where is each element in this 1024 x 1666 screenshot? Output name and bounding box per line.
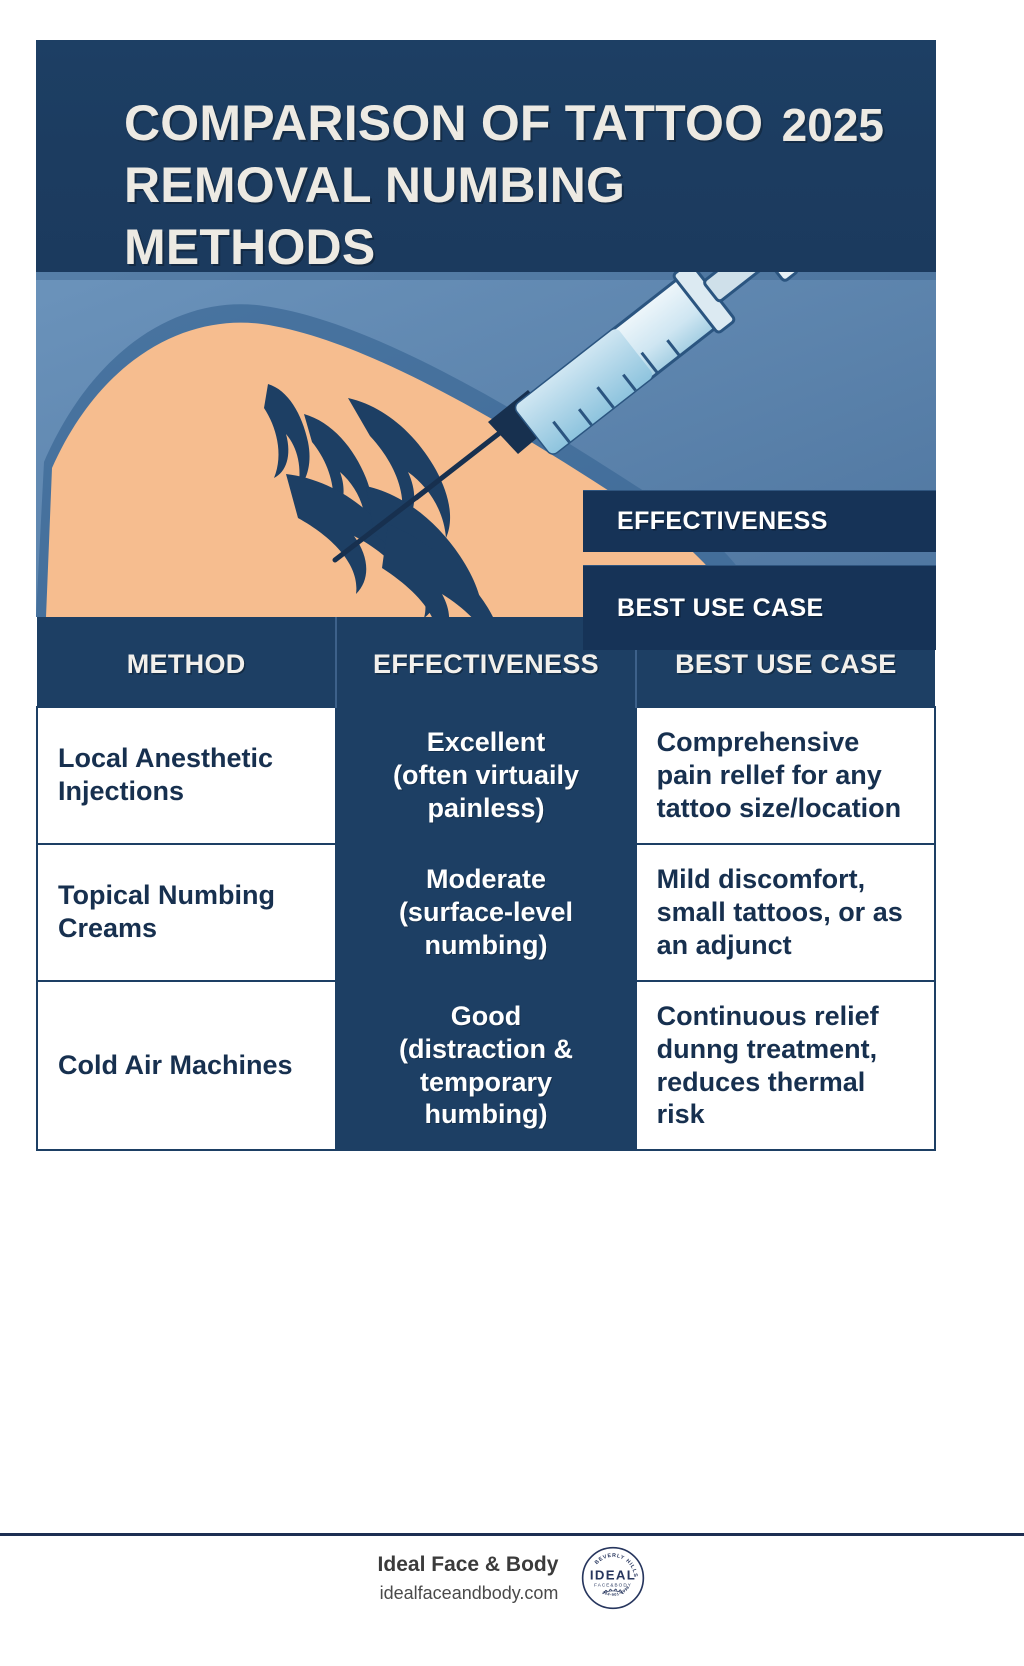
effectiveness-note: (distraction & temporary humbing): [357, 1033, 614, 1132]
effectiveness-note: (surface-level numbing): [357, 896, 614, 962]
column-header-method: METHOD: [37, 617, 336, 707]
year-label: 2025: [782, 98, 884, 152]
cell-best-use-case: Continuous relief dunng treatment, reduc…: [636, 981, 935, 1151]
cell-best-use-case: Comprehensive pain rellef for any tattoo…: [636, 707, 935, 844]
ideal-face-body-logo-icon: BEVERLY HILLS IDEAL FACE&BODY 424-901-39…: [580, 1545, 646, 1611]
footer: Ideal Face & Body idealfaceandbody.com B…: [0, 1545, 1024, 1611]
table-row: Local Anesthetic Injections Excellent (o…: [37, 707, 935, 844]
footer-divider: [0, 1533, 1024, 1536]
cell-method: Local Anesthetic Injections: [37, 707, 336, 844]
cell-best-use-case: Mild discomfort, small tattoos, or as an…: [636, 844, 935, 981]
overlay-label-best-use-case: BEST USE CASE: [583, 565, 936, 650]
footer-brand-name: Ideal Face & Body: [378, 1550, 559, 1580]
overlay-label-effectiveness: EFFECTIVENESS: [583, 490, 936, 552]
footer-website-url[interactable]: idealfaceandbody.com: [378, 1580, 559, 1606]
footer-text-block: Ideal Face & Body idealfaceandbody.com: [378, 1550, 559, 1607]
cell-effectiveness: Moderate (surface-level numbing): [336, 844, 635, 981]
cell-effectiveness: Excellent (often virtuaily painless): [336, 707, 635, 844]
table-row: Topical Numbing Creams Moderate (surface…: [37, 844, 935, 981]
comparison-table: METHOD EFFECTIVENESS BEST USE CASE Local…: [36, 617, 936, 1151]
effectiveness-rating: Moderate: [357, 863, 614, 896]
logo-name: IDEAL: [590, 1567, 636, 1582]
cell-effectiveness: Good (distraction & temporary humbing): [336, 981, 635, 1151]
title-band: COMPARISON OF TATTOO REMOVAL NUMBING MET…: [36, 40, 936, 272]
effectiveness-note: (often virtuaily painless): [357, 759, 614, 825]
effectiveness-rating: Excellent: [357, 726, 614, 759]
table-row: Cold Air Machines Good (distraction & te…: [37, 981, 935, 1151]
cell-method: Topical Numbing Creams: [37, 844, 336, 981]
cell-method: Cold Air Machines: [37, 981, 336, 1151]
effectiveness-rating: Good: [357, 1000, 614, 1033]
infographic-page: COMPARISON OF TATTOO REMOVAL NUMBING MET…: [0, 0, 1024, 1666]
page-title: COMPARISON OF TATTOO REMOVAL NUMBING MET…: [124, 92, 784, 278]
